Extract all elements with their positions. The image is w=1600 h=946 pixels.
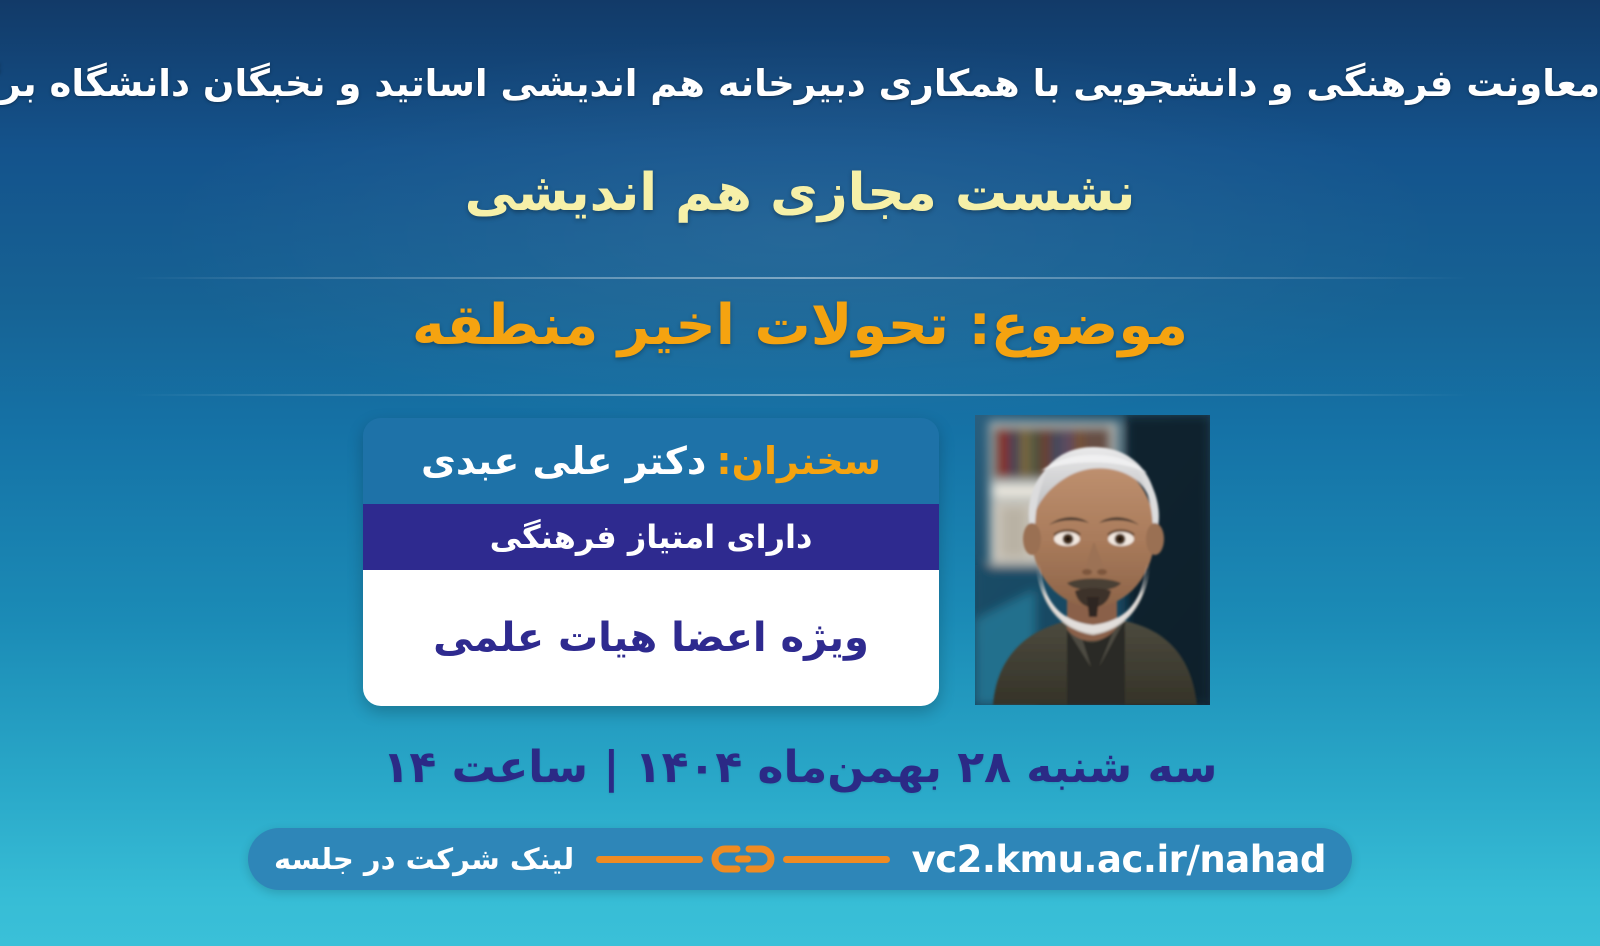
event-title: نشست مجازی هم اندیشی (0, 163, 1600, 223)
speaker-name: دکتر علی عبدی (421, 439, 706, 483)
speaker-label: سخنران: (716, 439, 881, 483)
speaker-band: سخنران: دکتر علی عبدی (363, 418, 939, 504)
chain-rule-left (596, 856, 703, 863)
speaker-portrait (975, 415, 1210, 705)
meeting-link-bar[interactable]: لینک شرکت در جلسه vc2.kmu.ac.ir/nahad (248, 828, 1352, 890)
event-subject: موضوع: تحولات اخیر منطقه (0, 293, 1600, 358)
chain-link-decoration (574, 843, 911, 875)
event-datetime: سه شنبه ۲۸ بهمن‌ماه ۱۴۰۴ | ساعت ۱۴ (0, 742, 1600, 793)
divider-upper (130, 277, 1470, 279)
chain-rule-right (783, 856, 890, 863)
meeting-link-label: لینک شرکت در جلسه (274, 842, 574, 876)
organizer-header: معاونت فرهنگی و دانشجویی با همکاری دبیرخ… (0, 62, 1600, 105)
meeting-link-url[interactable]: vc2.kmu.ac.ir/nahad (912, 838, 1326, 881)
cultural-credit-band: دارای امتیاز فرهنگی (363, 504, 939, 570)
audience-band: ویژه اعضا هیات علمی (363, 570, 939, 706)
chain-link-icon (707, 843, 779, 875)
divider-lower (130, 394, 1470, 396)
speaker-card: سخنران: دکتر علی عبدی دارای امتیاز فرهنگ… (363, 418, 939, 706)
event-poster: معاونت فرهنگی و دانشجویی با همکاری دبیرخ… (0, 0, 1600, 946)
